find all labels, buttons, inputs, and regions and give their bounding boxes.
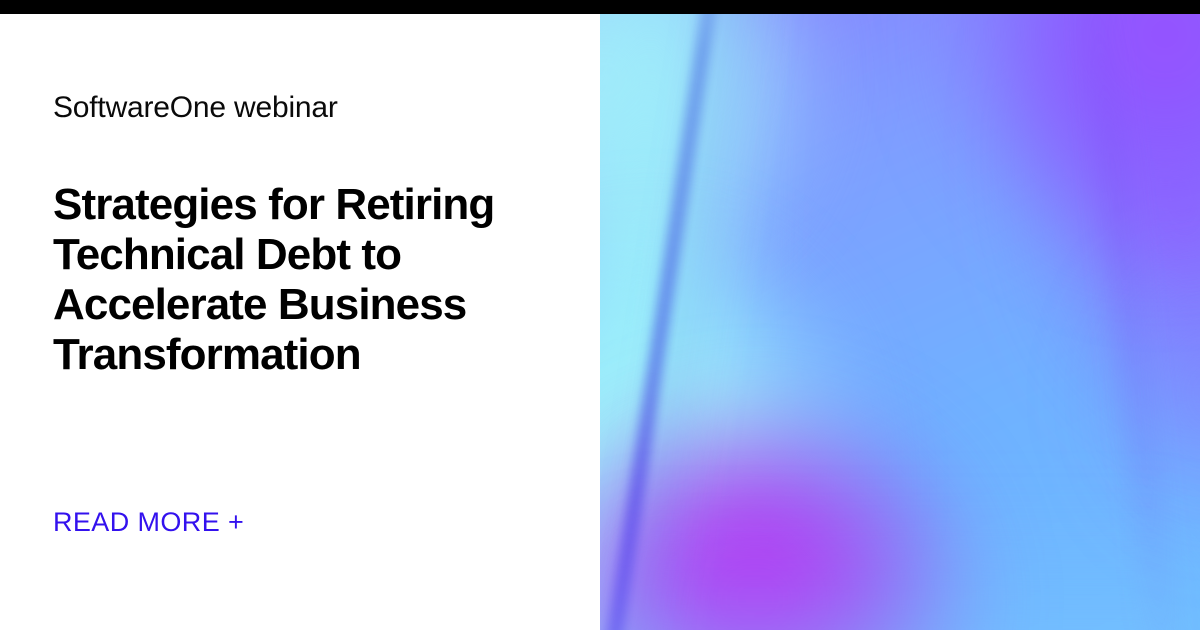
gradient-artwork: [600, 14, 1200, 630]
bottom-light-sheen: [600, 490, 1200, 630]
text-panel: SoftwareOne webinar Strategies for Retir…: [0, 14, 600, 630]
promo-card: SoftwareOne webinar Strategies for Retir…: [0, 0, 1200, 630]
page-title: Strategies for Retiring Technical Debt t…: [53, 180, 523, 380]
top-black-band: [0, 0, 1200, 14]
kicker-label: SoftwareOne webinar: [53, 90, 338, 126]
read-more-link[interactable]: READ MORE +: [53, 506, 244, 538]
